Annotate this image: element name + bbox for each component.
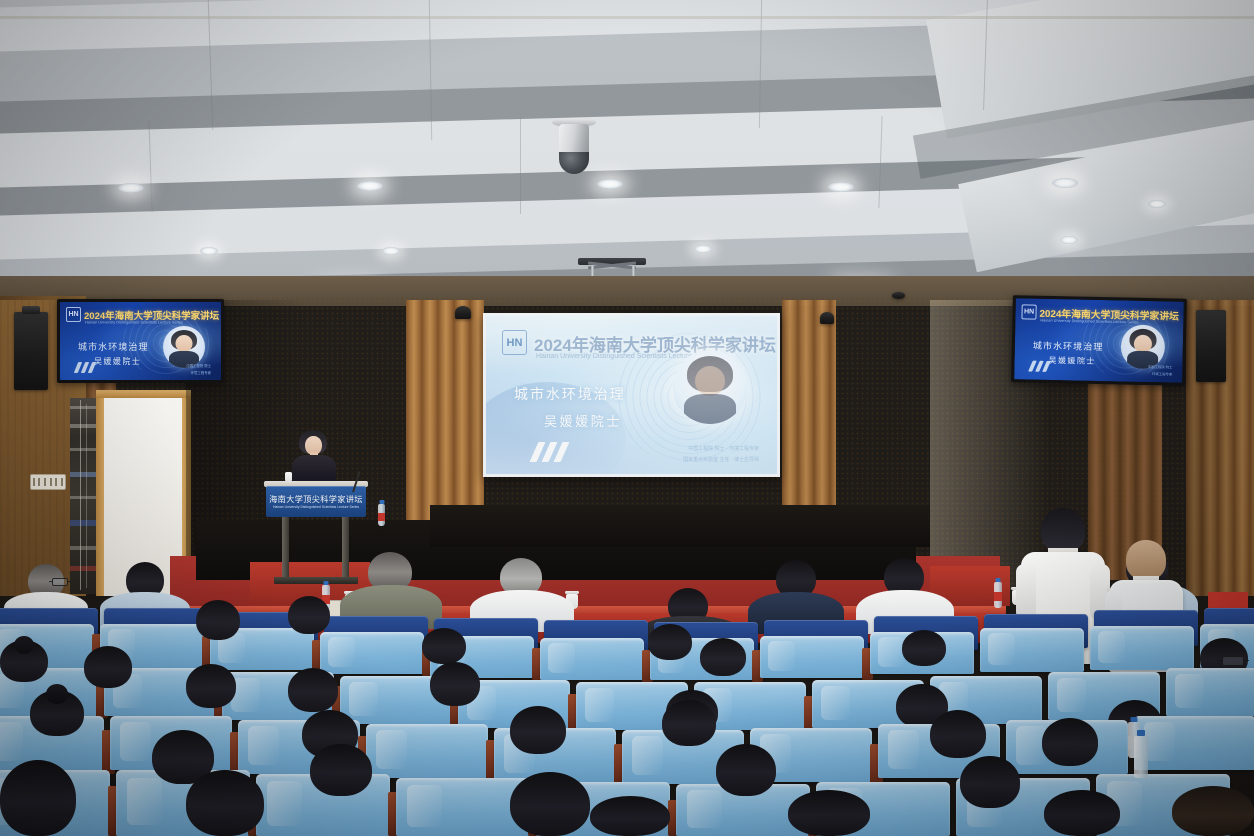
projection-credential-2: 国家重点实验室 主任 · 博士生导师 xyxy=(683,456,759,463)
ceiling-downlight xyxy=(694,245,712,253)
left-display-credential-2: 环境工程专家 xyxy=(191,370,211,375)
audience-head xyxy=(700,638,746,676)
audience-head xyxy=(186,664,236,708)
ceiling-downlight xyxy=(200,247,218,255)
ceiling-downlight xyxy=(597,179,623,189)
wall-speaker-left xyxy=(14,312,48,390)
wall-speaker-center-left xyxy=(455,306,471,319)
ceiling-downlight xyxy=(828,182,854,192)
right-display-credential-2: 环境工程专家 xyxy=(1152,371,1172,376)
wall-speaker-left-bracket xyxy=(22,306,40,314)
audience-head xyxy=(422,628,466,664)
ceiling-downlight xyxy=(1148,200,1166,208)
ceiling-downlight xyxy=(1060,236,1078,244)
audience-head xyxy=(1044,790,1120,836)
audience-head xyxy=(930,710,986,758)
left-display-speaker-name: 吴媛媛院士 xyxy=(94,356,141,367)
lectern-banner-text-zh: 海南大学顶尖科学家讲坛 xyxy=(266,493,366,505)
right-wall-display[interactable]: HN 2024年海南大学顶尖科学家讲坛 Hainan University Di… xyxy=(1011,295,1187,386)
wall-speaker-right xyxy=(1196,310,1226,382)
audience-head xyxy=(288,596,330,634)
audience-head xyxy=(510,706,566,754)
ceiling xyxy=(0,0,1254,300)
audience-head xyxy=(648,624,692,660)
right-display-stripes xyxy=(1028,361,1051,372)
audience-head xyxy=(0,760,76,836)
projection-credential-1: 中国工程院 院士 · 环境工程专家 xyxy=(688,445,759,452)
audience-bun xyxy=(46,684,68,704)
audience-head xyxy=(84,646,132,688)
audience-head xyxy=(288,668,338,712)
lectern: 海南大学顶尖科学家讲坛 Hainan University Distinguis… xyxy=(264,481,368,589)
ceiling-downlight xyxy=(357,181,383,191)
projection-portrait xyxy=(673,350,747,424)
light-switch-panel[interactable] xyxy=(30,474,66,490)
left-display-lecture-title: 城市水环境治理 xyxy=(78,340,149,353)
audience-head xyxy=(662,700,716,746)
right-display-speaker-name: 吴媛媛院士 xyxy=(1048,355,1095,367)
wall-speaker-center-right xyxy=(820,312,834,324)
projection-lecture-title: 城市水环境治理 xyxy=(514,384,626,404)
main-projection-screen[interactable]: HN 2024年海南大学顶尖科学家讲坛 Hainan University Di… xyxy=(483,313,780,477)
left-display-credential-1: 中国工程院 院士 xyxy=(186,363,211,368)
audience-head xyxy=(510,772,590,836)
left-display-portrait xyxy=(163,326,205,368)
audience-head xyxy=(716,744,776,796)
right-display-logo: HN xyxy=(1021,304,1036,319)
projection-speaker-name: 吴媛媛院士 xyxy=(544,411,622,430)
water-bottle xyxy=(994,582,1002,608)
audience-head xyxy=(186,770,264,836)
audience-head xyxy=(196,600,240,640)
water-bottle xyxy=(378,504,385,526)
audience-head xyxy=(788,790,870,836)
audience-head xyxy=(430,662,480,706)
lecture-hall-photo: HN 2024年海南大学顶尖科学家讲坛 Hainan University Di… xyxy=(0,0,1254,836)
right-display-lecture-title: 城市水环境治理 xyxy=(1033,339,1104,353)
right-display-credential-1: 中国工程院 院士 xyxy=(1148,364,1173,370)
lectern-banner-text-en: Hainan University Distinguished Scientis… xyxy=(266,505,366,509)
left-display-stripes xyxy=(74,362,96,373)
right-display-subtitle: Hainan University Distinguished Scientis… xyxy=(1040,318,1138,325)
podium-water-glass xyxy=(285,472,292,483)
ceiling-downlight xyxy=(1052,178,1078,188)
audience-head xyxy=(590,796,670,836)
audience-head xyxy=(902,630,946,666)
audience-head xyxy=(310,744,372,796)
audience-head xyxy=(1172,786,1254,836)
audience-head xyxy=(960,756,1020,808)
ceiling-downlight xyxy=(382,247,400,255)
audience-head xyxy=(1042,718,1098,766)
left-wall-display[interactable]: HN 2024年海南大学顶尖科学家讲坛 Hainan University Di… xyxy=(57,299,224,383)
left-display-logo: HN xyxy=(66,307,81,322)
ceiling-downlight xyxy=(118,183,144,193)
lectern-banner: 海南大学顶尖科学家讲坛 Hainan University Distinguis… xyxy=(266,486,366,517)
projection-logo: HN xyxy=(502,330,527,355)
left-display-subtitle: Hainan University Distinguished Scientis… xyxy=(85,320,183,325)
water-bottle xyxy=(1134,736,1148,778)
audience-bun xyxy=(14,636,34,654)
ceiling-sensor xyxy=(892,292,905,299)
